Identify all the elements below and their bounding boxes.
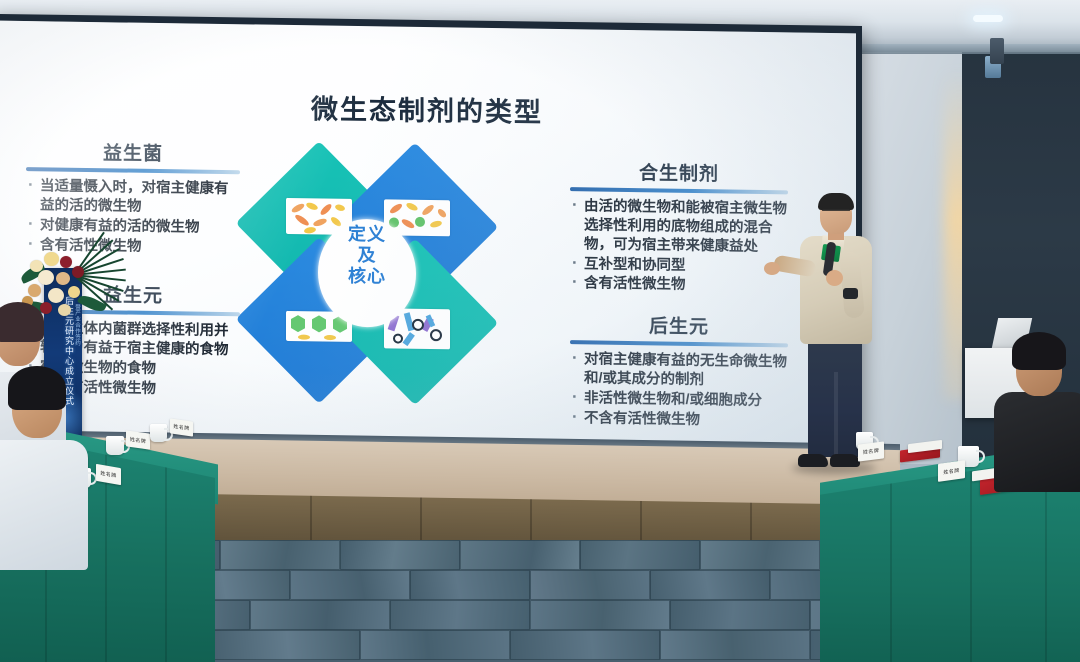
name-card-text: 姓名牌	[100, 470, 116, 480]
presenter-shoe	[798, 454, 828, 467]
block-rule	[26, 167, 240, 174]
ceiling-downlight-icon	[973, 15, 1003, 22]
presenter-shoe	[830, 454, 860, 467]
name-card: 姓名牌	[170, 418, 193, 436]
projection-screen: 微生态制剂的类型	[0, 21, 856, 474]
block-heading-probiotic: 益生菌	[26, 137, 240, 167]
center-label: 定义 及 核心	[318, 223, 416, 288]
four-diamond-diagram: 定义 及 核心	[256, 164, 478, 382]
name-card-text: 姓名牌	[173, 423, 189, 432]
name-card: 姓名牌	[858, 441, 884, 461]
slide-title: 微生态制剂的类型	[0, 83, 856, 135]
bullet-list-synbiotic: 由活的微生物和能被宿主微生物选择性利用的底物组成的混合物，可为宿主带来健康益处 …	[570, 197, 788, 296]
presentation-slide: 微生态制剂的类型	[0, 21, 856, 474]
attendee-left-front	[0, 362, 90, 562]
name-card-text: 姓名牌	[863, 447, 879, 456]
wall-speaker	[990, 38, 1004, 64]
bullet-item: 由活的微生物和能被宿主微生物选择性利用的底物组成的混合物，可为宿主带来健康益处	[570, 197, 788, 257]
bullet-item: 互补型和协同型	[570, 255, 788, 277]
bullet-item: 非活性微生物和/或细胞成分	[570, 389, 788, 411]
bullet-item: 不含有活性微生物	[570, 409, 788, 431]
block-rule	[570, 187, 788, 194]
center-label-line3: 核心	[318, 266, 416, 289]
slide-block-synbiotic: 合生制剂 由活的微生物和能被宿主微生物选择性利用的底物组成的混合物，可为宿主带来…	[570, 157, 788, 297]
presenter-right-hand	[826, 270, 843, 286]
bullet-item: 当适量慑入时，对宿主健康有益的活的微生物	[26, 177, 240, 218]
eyeglasses-icon	[822, 209, 850, 217]
attendee-right	[1000, 330, 1080, 470]
wristwatch-icon	[843, 288, 858, 299]
name-card: 姓名牌	[938, 460, 965, 482]
coffee-mug	[150, 424, 167, 442]
name-card-text: 姓名牌	[943, 466, 959, 475]
slide-block-postbiotic: 后生元 对宿主健康有益的无生命微生物和/或其成分的制剂 非活性微生物和/或细胞成…	[570, 310, 788, 432]
block-rule	[570, 340, 788, 347]
bullet-item: 对健康有益的活的微生物	[26, 216, 240, 238]
slide-block-probiotic: 益生菌 当适量慑入时，对宿主健康有益的活的微生物 对健康有益的活的微生物 含有活…	[26, 137, 240, 259]
coffee-mug	[106, 436, 124, 455]
block-heading-synbiotic: 合生制剂	[570, 157, 788, 187]
presenter-leg-split	[834, 372, 838, 456]
name-card-text: 姓名牌	[130, 435, 146, 444]
bullet-list-postbiotic: 对宿主健康有益的无生命微生物和/或其成分的制剂 非活性微生物和/或细胞成分 不含…	[570, 350, 788, 431]
bullet-item: 对宿主健康有益的无生命微生物和/或其成分的制剂	[570, 350, 788, 391]
presenter-hair	[818, 193, 854, 210]
name-card: 姓名牌	[126, 430, 150, 449]
center-label-line2: 及	[318, 245, 416, 268]
conference-room-photo: 微生态制剂的类型	[0, 0, 1080, 662]
bullet-item: 含有活性微生物	[570, 274, 788, 296]
block-heading-postbiotic: 后生元	[570, 310, 788, 340]
presenter-left-hand	[764, 262, 780, 275]
center-label-line1: 定义	[318, 223, 416, 246]
